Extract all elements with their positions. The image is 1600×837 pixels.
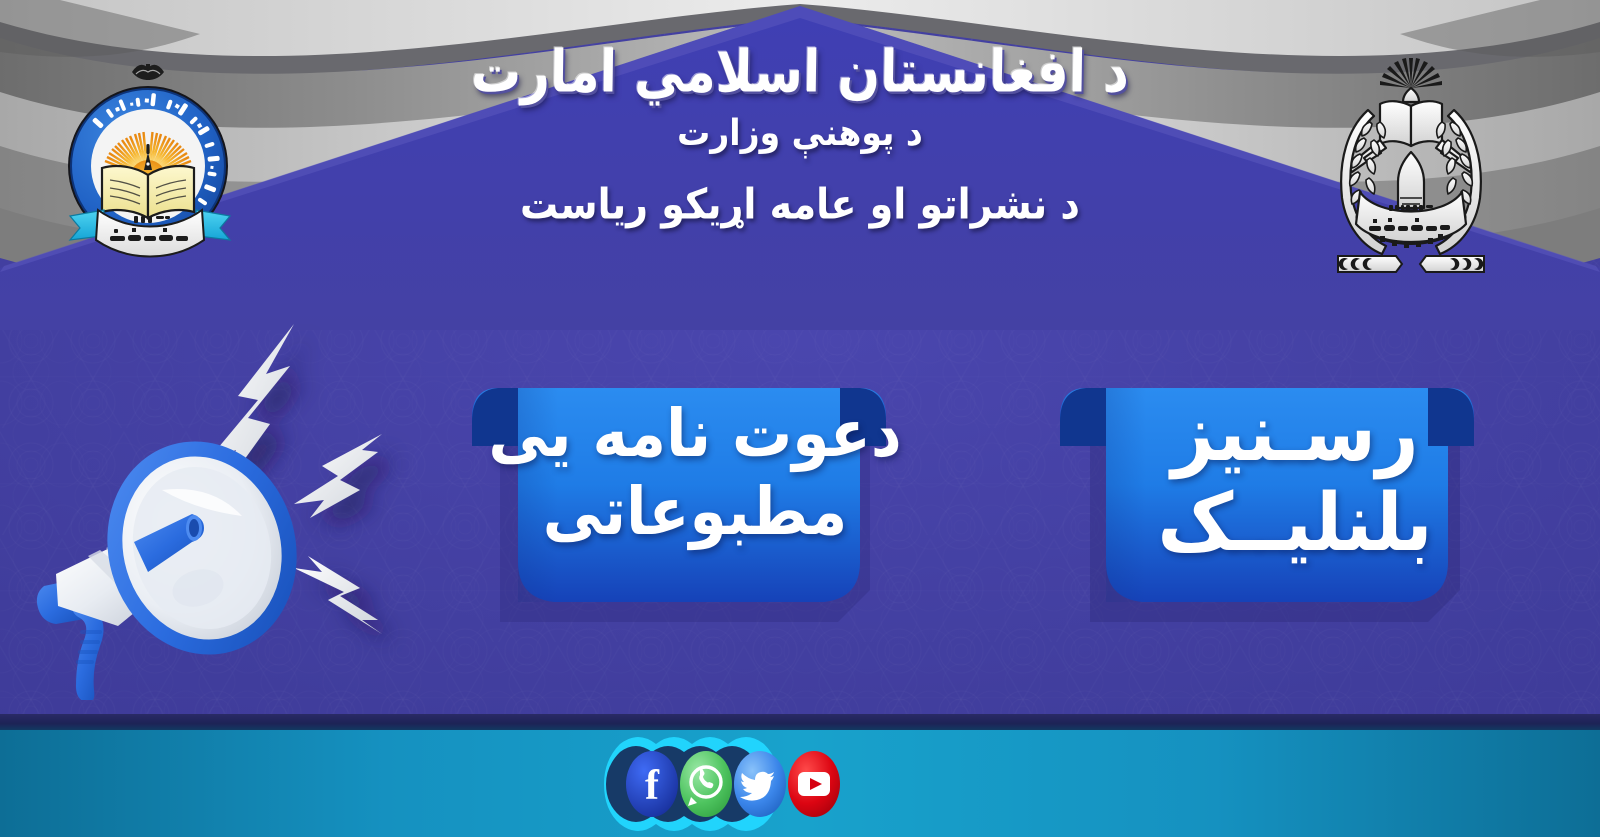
facebook-icon: f	[626, 751, 678, 817]
emblem-base-feet	[1338, 256, 1484, 272]
social-media-row: f	[0, 730, 1600, 837]
footer-divider	[0, 714, 1600, 730]
banner-left-shape	[472, 388, 886, 622]
whatsapp-icon	[680, 751, 732, 817]
youtube-icon	[788, 751, 840, 817]
emblem-book	[1380, 101, 1442, 146]
banner-canvas: د افغانستان اسلامي امارت د پوهنې وزارت د…	[0, 0, 1600, 837]
logo-open-book	[102, 166, 194, 218]
twitter-icon	[734, 751, 786, 817]
scroll-banner-shapes	[0, 366, 1600, 641]
national-emblem-logo	[1318, 48, 1504, 274]
banner-right-shape	[1060, 388, 1474, 622]
emblem-sunburst	[1380, 58, 1442, 88]
emblem-dome	[1403, 88, 1419, 102]
svg-text:f: f	[645, 763, 660, 809]
logo-crown-finial	[132, 64, 164, 80]
ministry-of-education-logo	[58, 58, 242, 274]
emblem-mihrab	[1398, 152, 1424, 210]
